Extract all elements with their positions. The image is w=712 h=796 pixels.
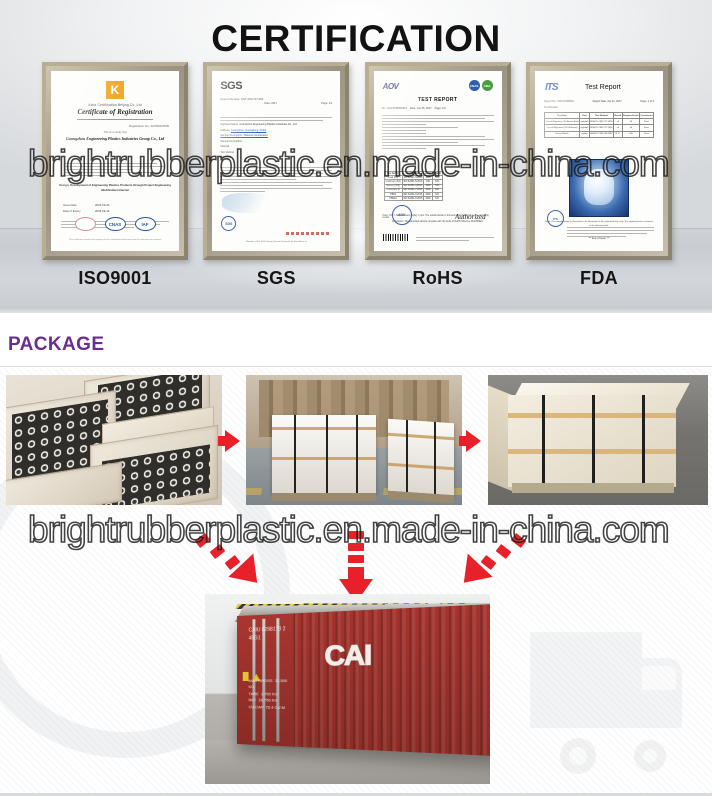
sgs-signature xyxy=(222,193,277,213)
certificate-paper: ITS Test Report Report No.: SHA17040531 … xyxy=(535,71,663,251)
cert-label-rohs: RoHS xyxy=(365,268,511,289)
sgs-stamp-icon: SGS xyxy=(221,216,236,231)
ghost-truck-graphic xyxy=(530,624,690,774)
shipping-container-photo[interactable]: CAIU 8298178 2 45G1 MAX GROSS 32,500 KG … xyxy=(205,594,490,784)
sgs-applicant-value: Guangzhou Engineering Plastics Industrie… xyxy=(239,123,296,126)
package-photo-pallets[interactable] xyxy=(246,375,462,505)
flow-arrow-right-2-icon xyxy=(466,430,481,452)
rohs-meta: No.: AOV1705001831 Date: Jun 05, 2017 Pa… xyxy=(382,107,494,110)
certificate-rule xyxy=(77,119,154,120)
package-photo-wooden-crate[interactable] xyxy=(488,375,708,505)
sgs-field-method: Test Method xyxy=(220,151,234,154)
certificate-card-fda[interactable]: ITS Test Report Report No.: SHA17040531 … xyxy=(526,62,672,260)
accreditation-seal-icon xyxy=(75,217,96,231)
container-type-code: 45G1 xyxy=(249,634,286,643)
sgs-meta: Date: 2017 Page: 1/1 xyxy=(264,102,332,105)
certificate-frame: AOV CNAS CMA TEST REPORT No.: AOV1705001… xyxy=(365,62,511,260)
fda-report-title: Test Report xyxy=(585,84,621,91)
sgs-field-conclusion: Conclusion xyxy=(220,156,232,159)
flow-arrow-right-1-icon xyxy=(225,430,240,452)
certificate-card-sgs[interactable]: SGS Report Number: SGT-2017-07-031 Date:… xyxy=(203,62,349,260)
rohs-date: Date: Jun 05, 2017 xyxy=(410,107,432,110)
rohs-report-no: No.: AOV1705001831 xyxy=(382,107,407,110)
barcode-icon xyxy=(383,234,409,241)
its-stamp-icon: ITS xyxy=(547,210,564,227)
cell: 1000 xyxy=(424,197,433,201)
certificate-reg-no: Registration No.: 0AXR0420905 xyxy=(129,124,169,128)
fda-page: Page: 1 of 2 xyxy=(641,100,654,103)
rohs-report-title: TEST REPORT xyxy=(378,97,498,103)
sgs-page: Page: 1/1 xyxy=(321,102,332,105)
fda-report-no: Report No.: SHA17040531 xyxy=(544,100,574,103)
certificate-frame: ITS Test Report Report No.: SHA17040531 … xyxy=(526,62,672,260)
cma-mark-icon: CMA xyxy=(482,80,493,91)
cell: IEC 62321-6:2015 xyxy=(402,197,424,201)
package-photo-cartons[interactable] xyxy=(6,375,222,505)
table-row: PBDEs IEC 62321-6:2015 1000 N.D. xyxy=(384,197,442,201)
container-brand-logo: CAI xyxy=(324,638,371,672)
accreditation-marks: CNAS CMA xyxy=(469,80,493,91)
its-logo-icon: ITS xyxy=(545,82,558,93)
fda-date: Report Date: Apr 21, 2017 xyxy=(593,100,622,103)
rohs-footer-lines xyxy=(416,237,494,243)
certification-section: CERTIFICATION K Axtia Certification Beij… xyxy=(0,0,712,313)
expiry-date-label: Date of Expiry xyxy=(63,209,95,215)
cell: FDA 21 CFR 178.3297 xyxy=(589,131,613,137)
product-detail-page: CERTIFICATION K Axtia Certification Beij… xyxy=(0,0,712,796)
certificate-awarded-to: This is to certify that xyxy=(55,131,175,134)
cnas-mark-icon: CNAS xyxy=(469,80,480,91)
sgs-field-applicant: Applicant Name xyxy=(220,123,238,126)
authorized-signature: Authorized xyxy=(455,213,486,221)
certificate-paper: SGS Report Number: SGT-2017-07-031 Date:… xyxy=(212,71,340,251)
rohs-page: Page: 1/2 xyxy=(435,107,446,110)
placard-value: 76.4 CU.M xyxy=(266,704,285,710)
cert-label-sgs: SGS xyxy=(203,268,349,289)
sgs-logo-icon: SGS xyxy=(220,80,242,92)
sgs-body: Applicant Name Guangzhou Engineering Pla… xyxy=(220,117,332,167)
certification-title: CERTIFICATION xyxy=(0,18,712,60)
cell: N.D. xyxy=(613,131,622,137)
container-id-text: CAIU 8298178 2 xyxy=(249,626,286,635)
container-unit-id: CAIU 8298178 2 45G1 xyxy=(249,626,286,643)
cnas-seal-icon: CNAS xyxy=(105,217,126,231)
cell: Heavy Metals xyxy=(544,131,579,137)
placard-value: 3,750 KG xyxy=(261,691,278,696)
iaf-seal-icon: IAF xyxy=(135,217,156,231)
certificate-frame: K Axtia Certification Beijing Co.,Ltd Ce… xyxy=(42,62,188,260)
issue-date-value: 2015-09-20 xyxy=(95,203,109,207)
sgs-field-material: Material xyxy=(220,145,229,148)
sgs-field-sample: Sample Description xyxy=(220,140,242,143)
container-placard: MAX GROSS 32,500 KG TARE 3,750 KG NET 28… xyxy=(249,678,294,711)
table-row: Heavy Metals mg/kg FDA 21 CFR 178.3297 N… xyxy=(544,131,653,137)
certificate-card-iso9001[interactable]: K Axtia Certification Beijing Co.,Ltd Ce… xyxy=(42,62,188,260)
certificate-paper: K Axtia Certification Beijing Co.,Ltd Ce… xyxy=(51,71,179,251)
fda-results-label: Test Results: xyxy=(544,106,558,109)
sample-photo xyxy=(569,159,629,217)
sgs-footer-note: Member of the SGS Group (Societe General… xyxy=(216,241,336,243)
fda-meta: Report No.: SHA17040531 Report Date: Apr… xyxy=(544,100,654,103)
certificate-seals: CNAS IAF xyxy=(55,217,175,231)
certificate-scope: Design, Development of Engineering Plast… xyxy=(55,183,175,193)
aov-logo-icon: AOV xyxy=(383,82,399,91)
package-heading: PACKAGE xyxy=(8,334,104,356)
certificate-gallery: K Axtia Certification Beijing Co.,Ltd Ce… xyxy=(42,62,672,262)
certificate-dates: Issue Date2015-09-20 Date of Expiry2018-… xyxy=(63,203,109,215)
certificate-footer-note: This certificate remains the property of… xyxy=(55,239,175,241)
rohs-results-table: Test Item(s) Test Method Limit Result Le… xyxy=(384,171,443,201)
placard-label: CU.CAP xyxy=(249,704,264,709)
cell: N.D. xyxy=(432,197,442,201)
fda-results-table: Test Item Unit Test Method Result Requir… xyxy=(544,112,654,138)
sgs-report-no: Report Number: SGT-2017-07-031 xyxy=(220,97,332,101)
placard-label: MAX GROSS xyxy=(249,678,273,683)
sgs-security-bar xyxy=(286,232,332,235)
placard-value: 28,750 KG xyxy=(259,697,278,702)
placard-label: TARE xyxy=(249,691,259,696)
cell: PBDEs xyxy=(384,197,402,201)
certificate-paper: AOV CNAS CMA TEST REPORT No.: AOV1705001… xyxy=(374,71,502,251)
rohs-field-lines xyxy=(382,115,494,151)
certification-labels: ISO9001 SGS RoHS FDA xyxy=(42,268,672,289)
sgs-field-address: Address xyxy=(220,129,229,132)
cell: mg/kg xyxy=(579,131,589,137)
certification-bottom-edge xyxy=(0,307,712,313)
placard-label: NET xyxy=(249,697,257,702)
cell: Pass xyxy=(640,131,654,137)
certificate-frame: SGS Report Number: SGT-2017-07-031 Date:… xyxy=(203,62,349,260)
cert-label-fda: FDA xyxy=(526,268,672,289)
aov-stamp-icon: AOV xyxy=(392,205,412,225)
certificate-body-lines xyxy=(65,163,166,178)
certificate-headline: Certificate of Registration xyxy=(55,108,175,116)
certificate-card-rohs[interactable]: AOV CNAS CMA TEST REPORT No.: AOV1705001… xyxy=(365,62,511,260)
axtia-logo-icon: K xyxy=(106,81,124,99)
certificate-org: Axtia Certification Beijing Co.,Ltd xyxy=(55,103,175,107)
cell: 100 xyxy=(622,131,639,137)
sgs-date: Date: 2017 xyxy=(264,102,277,105)
certificate-company: Guangzhou Engineering Plastics Industrie… xyxy=(55,136,175,142)
fda-footer-lines xyxy=(567,227,654,239)
cert-label-iso9001: ISO9001 xyxy=(42,268,188,289)
expiry-date-value: 2018-09-19 xyxy=(95,209,109,213)
package-section: brightrubberplastic.en.made-in-china.com xyxy=(0,368,712,796)
package-divider xyxy=(0,366,712,367)
